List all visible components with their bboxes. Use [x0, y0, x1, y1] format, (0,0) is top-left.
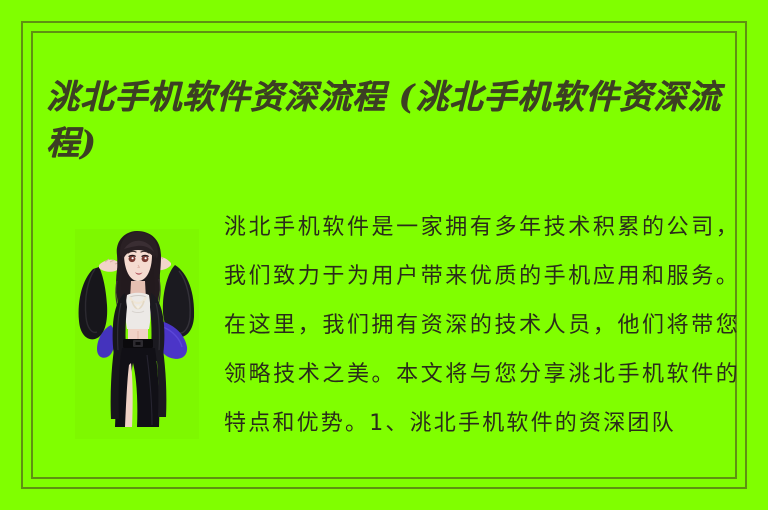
anime-woman-figure [75, 229, 199, 439]
article-body: 洮北手机软件是一家拥有多年技术积累的公司，我们致力于为用户带来优质的手机应用和服… [224, 203, 740, 448]
page-title: 洮北手机软件资深流程 (洮北手机软件资深流程) [46, 74, 722, 166]
poster-page: 洮北手机软件资深流程 (洮北手机软件资深流程) [0, 0, 768, 510]
anime-woman-illustration [75, 229, 199, 439]
